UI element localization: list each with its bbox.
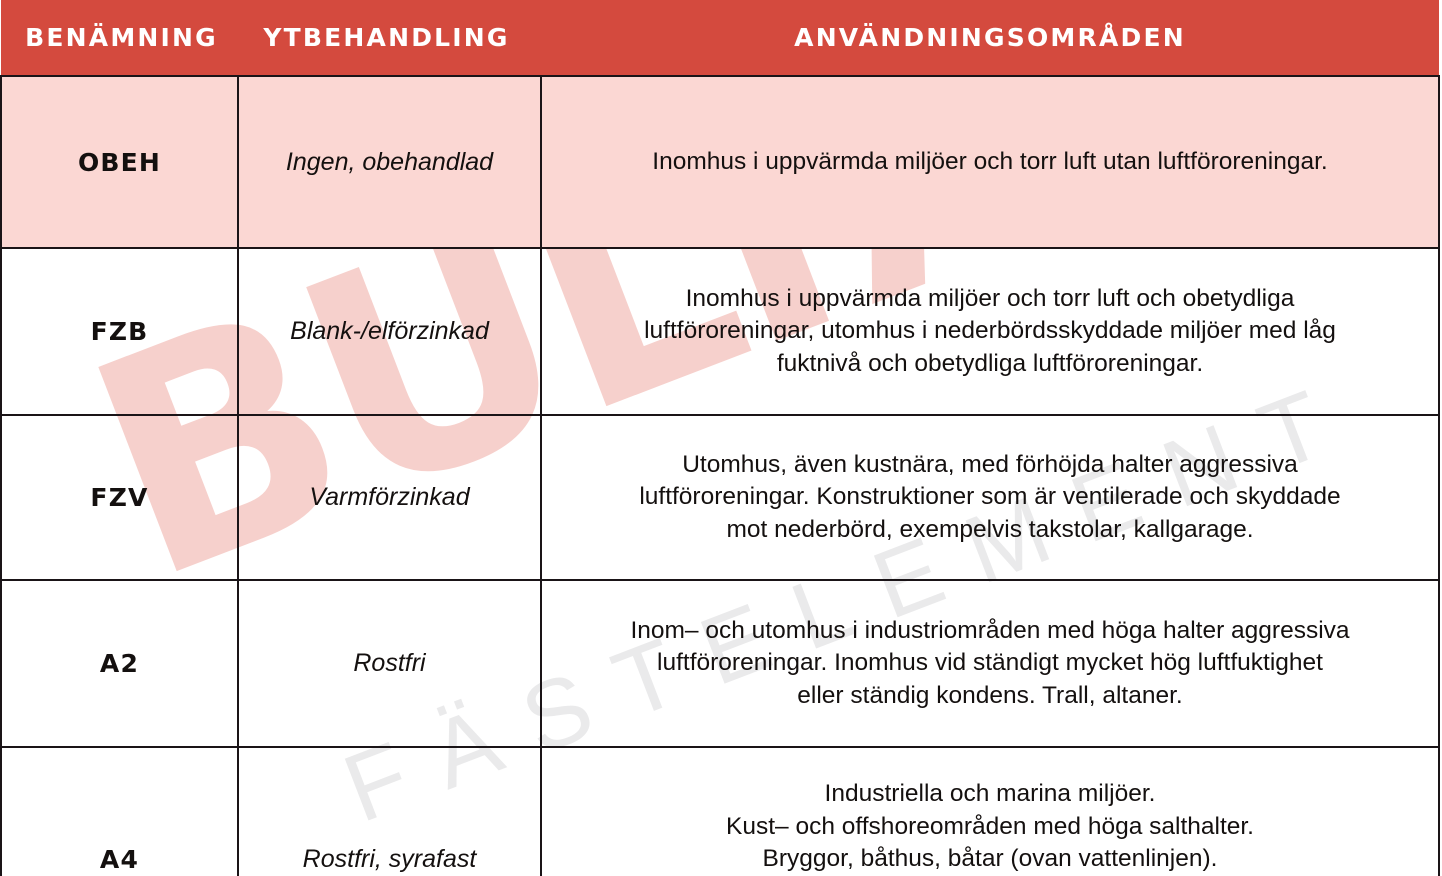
column-header-benamning: BENÄMNING: [1, 0, 238, 76]
usage-line: Inom– och utomhus i industriområden med …: [564, 615, 1416, 648]
usage-line: luftföroreningar. Inomhus vid ständigt m…: [564, 647, 1416, 680]
usage-line: Industriella och marina miljöer.: [564, 778, 1416, 811]
table-row: A2 Rostfri Inom– och utomhus i industrio…: [1, 580, 1439, 747]
cell-code: OBEH: [1, 76, 238, 248]
cell-usage: Industriella och marina miljöer. Kust– o…: [541, 747, 1439, 876]
cell-treatment: Ingen, obehandlad: [238, 76, 541, 248]
column-header-ytbehandling: YTBEHANDLING: [238, 0, 541, 76]
cell-code: A4: [1, 747, 238, 876]
usage-line: Inomhus i uppvärmda miljöer och torr luf…: [564, 283, 1416, 316]
table-header: BENÄMNING YTBEHANDLING ANVÄNDNINGSOMRÅDE…: [1, 0, 1439, 76]
column-header-anvandningsomraden: ANVÄNDNINGSOMRÅDEN: [541, 0, 1439, 76]
cell-code: FZV: [1, 415, 238, 580]
usage-line: luftföroreningar. Konstruktioner som är …: [564, 481, 1416, 514]
usage-line: eller ständig kondens. Trall, altaner.: [564, 680, 1416, 713]
usage-line: Bryggor, båthus, båtar (ovan vattenlinje…: [564, 843, 1416, 876]
table-header-row: BENÄMNING YTBEHANDLING ANVÄNDNINGSOMRÅDE…: [1, 0, 1439, 76]
cell-treatment: Blank-/elförzinkad: [238, 248, 541, 415]
cell-treatment: Rostfri: [238, 580, 541, 747]
usage-line: luftföroreningar, utomhus i nederbördssk…: [564, 315, 1416, 348]
table-row: OBEH Ingen, obehandlad Inomhus i uppvärm…: [1, 76, 1439, 248]
cell-usage: Inomhus i uppvärmda miljöer och torr luf…: [541, 248, 1439, 415]
cell-treatment: Rostfri, syrafast: [238, 747, 541, 876]
table-row: FZB Blank-/elförzinkad Inomhus i uppvärm…: [1, 248, 1439, 415]
surface-treatment-table-page: BULTAB FÄSTELEMENT BENÄMNING YTBEHANDLIN…: [0, 0, 1442, 876]
cell-code: FZB: [1, 248, 238, 415]
usage-line: Kust– och offshoreområden med höga salth…: [564, 811, 1416, 844]
cell-usage: Utomhus, även kustnära, med förhöjda hal…: [541, 415, 1439, 580]
table-row: FZV Varmförzinkad Utomhus, även kustnära…: [1, 415, 1439, 580]
surface-treatment-table: BENÄMNING YTBEHANDLING ANVÄNDNINGSOMRÅDE…: [0, 0, 1440, 876]
cell-usage: Inom– och utomhus i industriområden med …: [541, 580, 1439, 747]
usage-line: fuktnivå och obetydliga luftföroreningar…: [564, 348, 1416, 381]
usage-line: mot nederbörd, exempelvis takstolar, kal…: [564, 514, 1416, 547]
cell-treatment: Varmförzinkad: [238, 415, 541, 580]
table-body: OBEH Ingen, obehandlad Inomhus i uppvärm…: [1, 76, 1439, 876]
usage-line: Utomhus, även kustnära, med förhöjda hal…: [564, 449, 1416, 482]
cell-code: A2: [1, 580, 238, 747]
cell-usage: Inomhus i uppvärmda miljöer och torr luf…: [541, 76, 1439, 248]
usage-line: Inomhus i uppvärmda miljöer och torr luf…: [564, 146, 1416, 179]
table-row: A4 Rostfri, syrafast Industriella och ma…: [1, 747, 1439, 876]
